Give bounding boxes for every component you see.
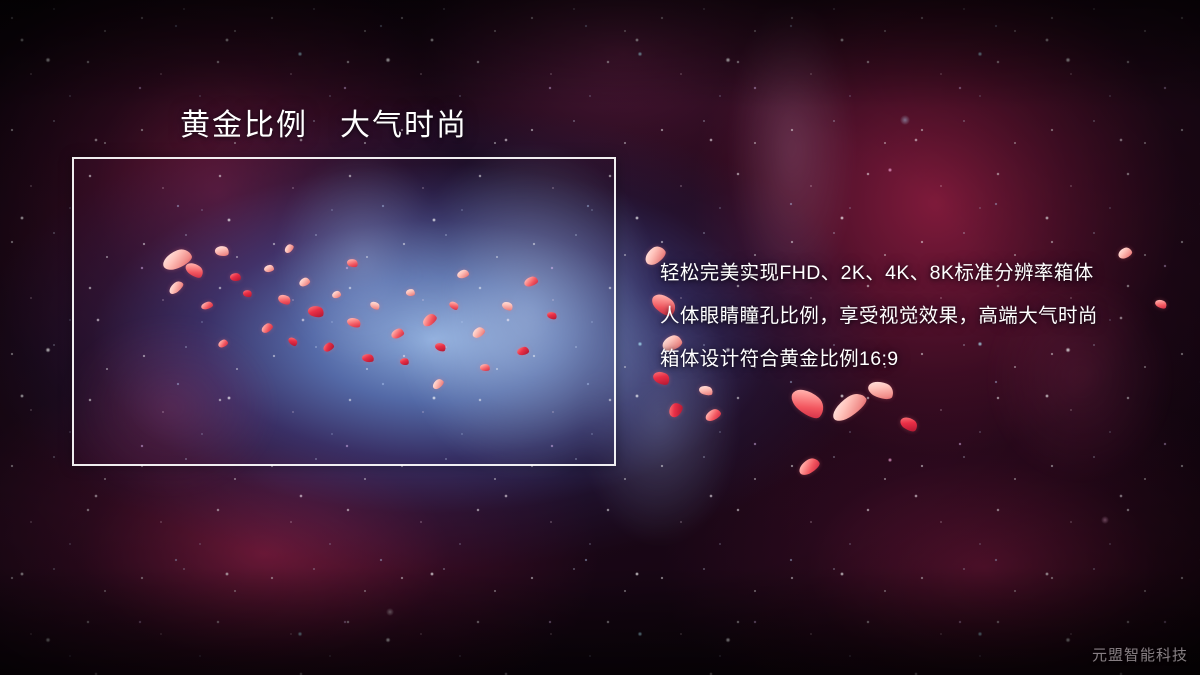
watermark: 元盟智能科技 — [1092, 644, 1188, 665]
petal — [200, 301, 213, 311]
petal — [704, 407, 723, 423]
petal — [242, 289, 253, 299]
body-text-block: 轻松完美实现FHD、2K、4K、8K标准分辨率箱体 人体眼睛瞳孔比例，享受视觉效… — [660, 252, 1160, 381]
petal — [666, 400, 685, 419]
body-line-2: 人体眼睛瞳孔比例，享受视觉效果，高端大气时尚 — [660, 295, 1160, 338]
framed-nebula-wisps — [74, 159, 614, 464]
petal — [277, 292, 293, 306]
petal — [471, 325, 487, 339]
petal — [331, 290, 341, 298]
framed-image-panel[interactable] — [72, 157, 616, 466]
petal — [399, 357, 409, 366]
framed-starfield-small — [74, 159, 614, 464]
petal — [796, 455, 822, 477]
petal — [546, 310, 558, 320]
petal — [167, 279, 185, 296]
petal — [346, 257, 359, 268]
framed-petal-layer — [74, 159, 614, 464]
petal — [260, 322, 274, 335]
petal — [298, 276, 311, 287]
petal — [390, 327, 405, 340]
petal — [361, 353, 374, 363]
framed-nebula-background — [74, 159, 614, 464]
petal — [322, 341, 335, 353]
petal — [217, 338, 229, 348]
framed-image-content — [74, 159, 614, 464]
slide-canvas: 黄金比例 大气时尚 轻松完美实现FHD、2K、4K、8K标准分辨率箱体 人体眼睛… — [0, 0, 1200, 675]
petal — [264, 264, 275, 272]
body-line-3: 箱体设计符合黄金比例16:9 — [660, 338, 1160, 381]
petal — [183, 260, 205, 281]
petal — [214, 245, 230, 258]
petal — [287, 336, 299, 348]
petal — [346, 316, 362, 330]
petal — [160, 246, 194, 273]
petal — [501, 300, 515, 312]
petal — [456, 269, 469, 279]
petal — [898, 414, 920, 434]
petal — [523, 275, 539, 288]
petal — [307, 304, 325, 319]
petal — [434, 341, 447, 353]
petal — [866, 378, 896, 403]
framed-starfield-medium — [74, 159, 614, 464]
petal — [448, 300, 460, 312]
petal — [517, 346, 530, 356]
petal — [420, 312, 438, 329]
petal — [283, 243, 295, 255]
petal — [431, 377, 445, 391]
petal — [229, 272, 241, 281]
petal — [698, 384, 714, 397]
petal — [406, 288, 416, 296]
petal — [828, 389, 870, 425]
page-title: 黄金比例 大气时尚 — [180, 100, 468, 144]
petal — [479, 363, 490, 372]
body-line-1: 轻松完美实现FHD、2K、4K、8K标准分辨率箱体 — [660, 252, 1160, 295]
petal — [369, 300, 381, 311]
petal — [787, 383, 829, 423]
